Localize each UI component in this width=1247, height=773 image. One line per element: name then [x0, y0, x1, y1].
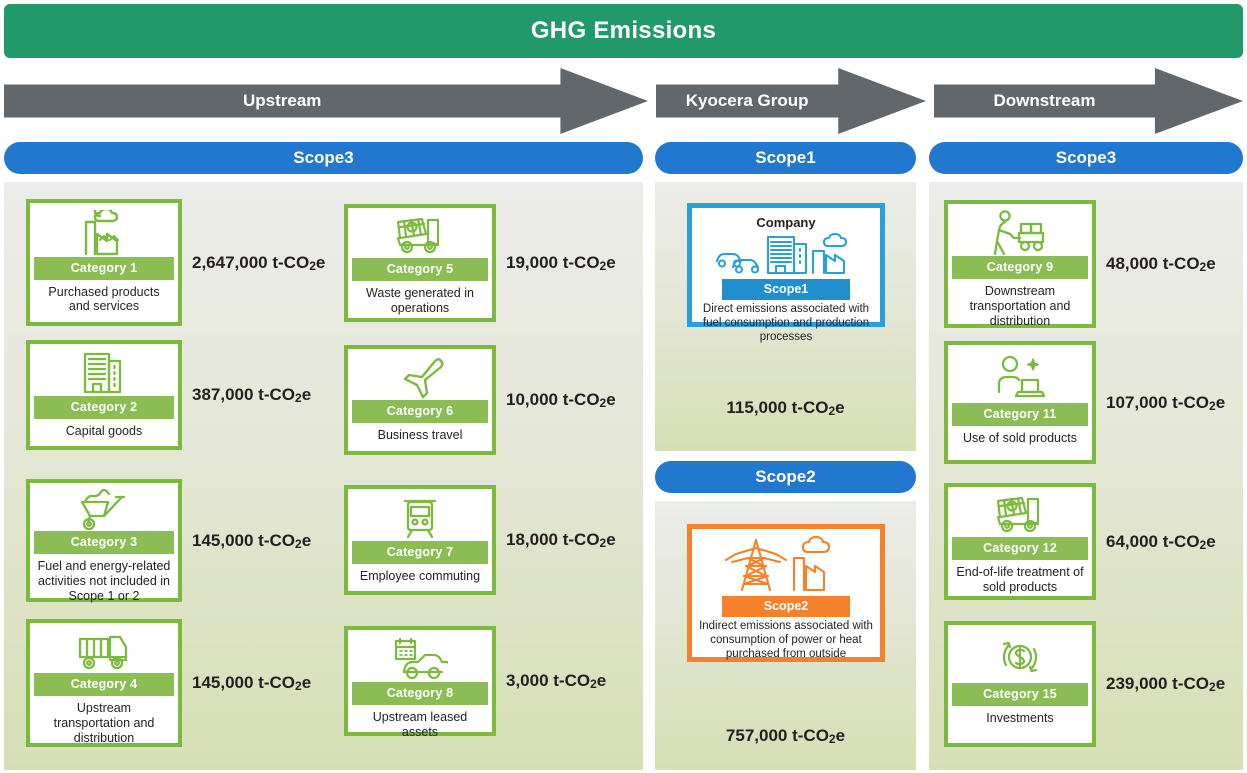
category-row: Category 6Business travel10,000 t-CO2e: [344, 345, 616, 455]
category-emission-value: 64,000 t-CO2e: [1106, 532, 1216, 552]
scope1-card: Company Scope1 Direct emissions associat…: [687, 203, 885, 327]
category-label: Category 15: [952, 683, 1088, 706]
scope1-tag: Scope1: [722, 279, 850, 300]
airplane-icon: [394, 355, 446, 400]
person-laptop-icon: [995, 351, 1045, 403]
category-description: Downstream transportation and distributi…: [952, 279, 1088, 331]
arrow-upstream: Upstream: [4, 68, 648, 134]
category-label: Category 5: [352, 258, 488, 281]
category-emission-value: 387,000 t-CO2e: [192, 385, 311, 405]
arrow-kyocera-group: Kyocera Group: [656, 68, 926, 134]
category-description: Investments: [983, 706, 1056, 738]
category-card-category-6[interactable]: Category 6Business travel: [344, 345, 496, 455]
category-description: End-of-life treatment of sold products: [952, 560, 1088, 598]
category-description: Capital goods: [63, 419, 145, 442]
hand-truck-icon: [992, 210, 1048, 256]
category-row: Category 2Capital goods387,000 t-CO2e: [26, 340, 311, 450]
category-label: Category 4: [34, 673, 174, 696]
category-card-category-4[interactable]: Category 4Upstream transportation and di…: [26, 619, 182, 747]
category-card-category-1[interactable]: Category 1Purchased products and service…: [26, 199, 182, 326]
scope2-total: 757,000 t-CO2e: [655, 726, 916, 746]
garbage-truck-icon: [392, 214, 448, 258]
category-emission-value: 19,000 t-CO2e: [506, 253, 616, 273]
page-title: GHG Emissions: [4, 4, 1243, 58]
category-card-category-12[interactable]: Category 12End-of-life treatment of sold…: [944, 483, 1096, 600]
category-emission-value: 239,000 t-CO2e: [1106, 674, 1225, 694]
banner-scope1: Scope1: [655, 142, 916, 174]
arrow-downstream-label: Downstream: [993, 91, 1095, 111]
category-description: Use of sold products: [960, 426, 1080, 455]
category-label: Category 8: [352, 682, 488, 705]
category-card-category-15[interactable]: Category 15Investments: [944, 621, 1096, 747]
category-row: Category 3Fuel and energy-related activi…: [26, 479, 311, 602]
scope2-tag: Scope2: [722, 596, 850, 617]
car-calendar-icon: [392, 636, 448, 682]
scope1-description: Direct emissions associated with fuel co…: [698, 300, 874, 344]
category-description: Upstream leased assets: [352, 705, 488, 743]
category-description: Purchased products and services: [34, 280, 174, 318]
category-description: Employee commuting: [357, 564, 483, 587]
banner-scope3-downstream: Scope3: [929, 142, 1243, 174]
category-row: Category 11Use of sold products107,000 t…: [944, 341, 1225, 464]
arrow-kyocera-group-label: Kyocera Group: [686, 91, 809, 111]
category-row: Category 1Purchased products and service…: [26, 199, 325, 326]
dump-truck-icon: [76, 629, 132, 673]
category-emission-value: 2,647,000 t-CO2e: [192, 253, 325, 273]
category-emission-value: 145,000 t-CO2e: [192, 673, 311, 693]
category-emission-value: 3,000 t-CO2e: [506, 671, 606, 691]
category-emission-value: 10,000 t-CO2e: [506, 390, 616, 410]
ghg-emissions-diagram: GHG Emissions Upstream Kyocera Group Dow…: [0, 0, 1247, 773]
money-cycle-icon: [997, 631, 1043, 683]
scope2-description: Indirect emissions associated with consu…: [698, 617, 874, 661]
scope2-total-text: 757,000 t-CO2e: [726, 726, 845, 745]
category-card-category-5[interactable]: Category 5Waste generated in operations: [344, 204, 496, 322]
category-label: Category 3: [34, 531, 174, 554]
factory-icon: [78, 209, 130, 257]
category-description: Upstream transportation and distribution: [34, 696, 174, 748]
category-row: Category 7Employee commuting18,000 t-CO2…: [344, 485, 616, 595]
category-card-category-2[interactable]: Category 2Capital goods: [26, 340, 182, 450]
wheelbarrow-icon: [78, 489, 130, 531]
category-label: Category 6: [352, 400, 488, 423]
category-row: Category 15Investments239,000 t-CO2e: [944, 621, 1225, 747]
category-emission-value: 145,000 t-CO2e: [192, 531, 311, 551]
category-card-category-8[interactable]: Category 8Upstream leased assets: [344, 626, 496, 736]
banner-scope3-upstream: Scope3: [4, 142, 643, 174]
category-card-category-7[interactable]: Category 7Employee commuting: [344, 485, 496, 595]
scope1-heading: Company: [756, 215, 815, 230]
category-card-category-3[interactable]: Category 3Fuel and energy-related activi…: [26, 479, 182, 602]
category-card-category-11[interactable]: Category 11Use of sold products: [944, 341, 1096, 464]
company-cars-factory-icon: [711, 231, 861, 279]
scope1-total: 115,000 t-CO2e: [655, 398, 916, 418]
category-row: Category 8Upstream leased assets3,000 t-…: [344, 626, 606, 736]
pylon-factory-icon: [722, 536, 850, 596]
category-emission-value: 48,000 t-CO2e: [1106, 254, 1216, 274]
category-emission-value: 18,000 t-CO2e: [506, 530, 616, 550]
garbage-truck-icon: [992, 493, 1048, 537]
category-label: Category 9: [952, 256, 1088, 279]
category-label: Category 1: [34, 257, 174, 280]
category-description: Fuel and energy-related activities not i…: [34, 554, 174, 606]
arrow-downstream: Downstream: [934, 68, 1243, 134]
category-label: Category 2: [34, 396, 174, 419]
category-row: Category 9Downstream transportation and …: [944, 200, 1216, 328]
scope2-card: Scope2 Indirect emissions associated wit…: [687, 524, 885, 662]
page-title-text: GHG Emissions: [531, 17, 716, 45]
category-row: Category 4Upstream transportation and di…: [26, 619, 311, 747]
building-icon: [81, 350, 127, 396]
category-description: Business travel: [375, 423, 466, 446]
scope1-total-text: 115,000 t-CO2e: [726, 398, 844, 417]
banner-scope2: Scope2: [655, 461, 916, 493]
category-description: Waste generated in operations: [352, 281, 488, 319]
category-label: Category 7: [352, 541, 488, 564]
category-emission-value: 107,000 t-CO2e: [1106, 393, 1225, 413]
arrow-upstream-label: Upstream: [243, 91, 321, 111]
category-label: Category 12: [952, 537, 1088, 560]
category-label: Category 11: [952, 403, 1088, 426]
category-row: Category 12End-of-life treatment of sold…: [944, 483, 1216, 600]
train-icon: [399, 495, 441, 541]
category-row: Category 5Waste generated in operations1…: [344, 204, 616, 322]
category-card-category-9[interactable]: Category 9Downstream transportation and …: [944, 200, 1096, 328]
